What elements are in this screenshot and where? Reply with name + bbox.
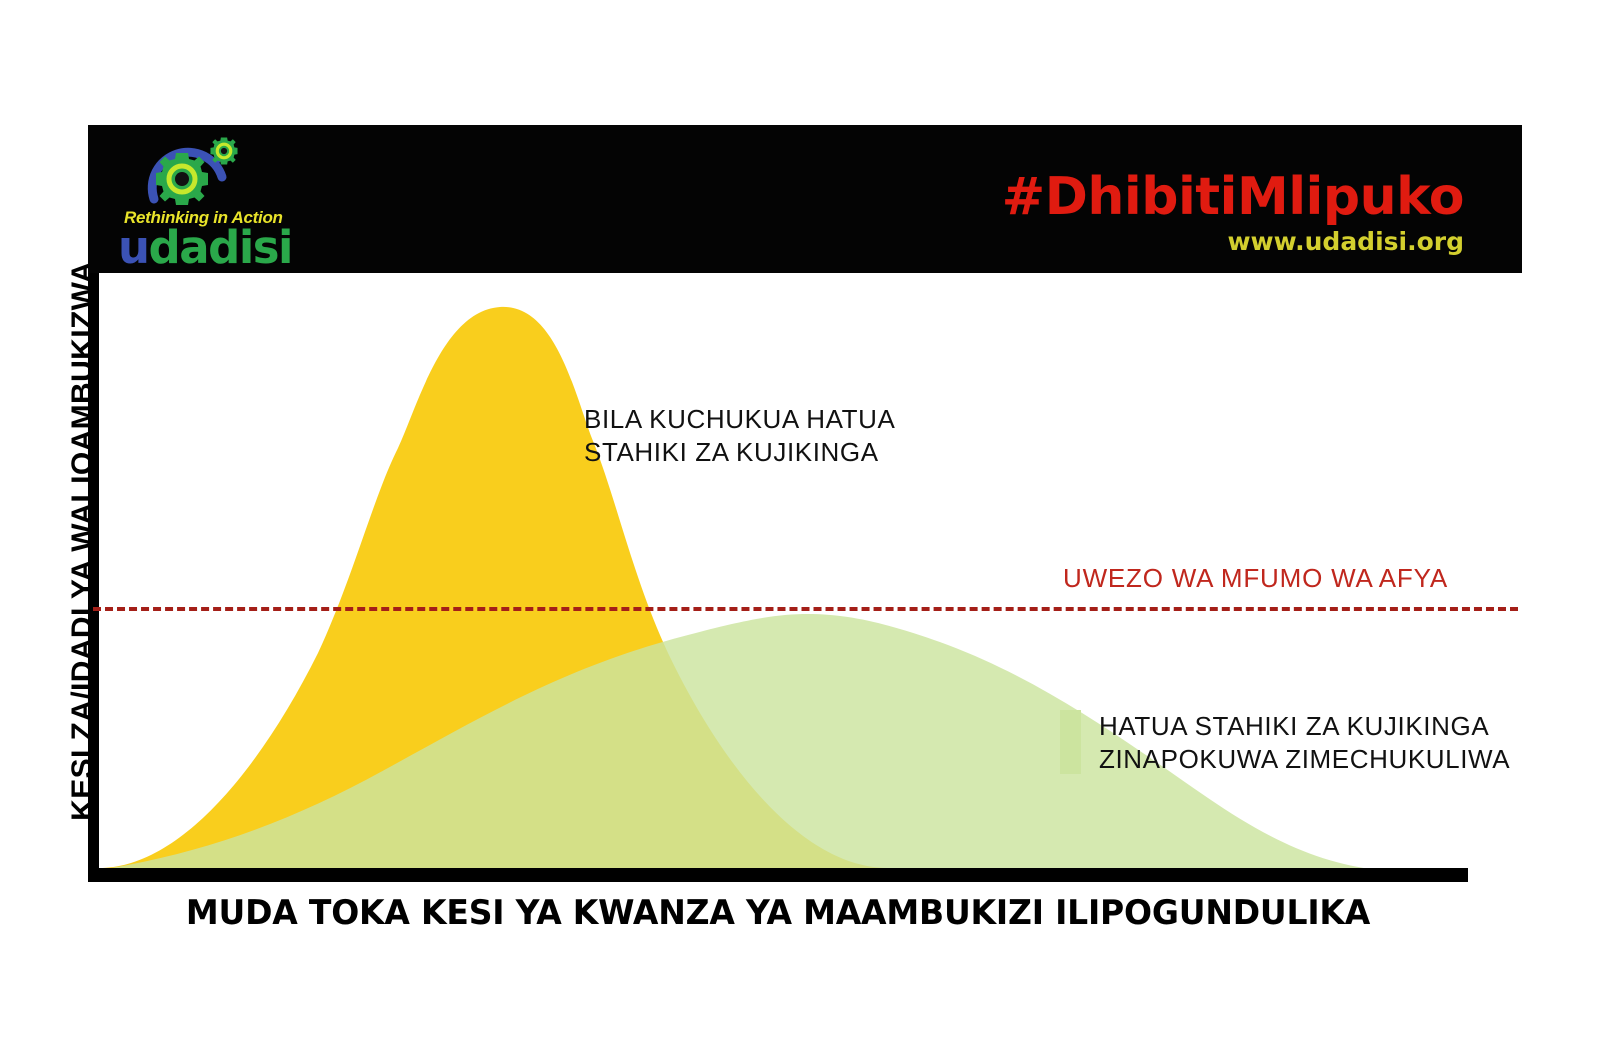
legend-no-action-line2: STAHIKI ZA KUJIKINGA [584,436,895,469]
header-bar: Rethinking in Action udadisi #DhibitiMli… [88,125,1522,273]
legend-with-action-line1: HATUA STAHIKI ZA KUJIKINGA [1099,710,1510,743]
health-capacity-label: UWEZO WA MFUMO WA AFYA [1063,563,1448,594]
logo-wordmark-u: u [118,221,149,274]
legend-with-action: HATUA STAHIKI ZA KUJIKINGA ZINAPOKUWA ZI… [1060,710,1510,776]
logo-wordmark: udadisi [118,225,292,270]
x-axis-title: MUDA TOKA KESI YA KWANZA YA MAAMBUKIZI I… [109,893,1448,933]
health-capacity-dashed-line [93,607,1518,611]
legend-no-action: BILA KUCHUKUA HATUA STAHIKI ZA KUJIKINGA [545,403,895,469]
legend-no-action-line1: BILA KUCHUKUA HATUA [584,403,895,436]
campaign-hashtag-block: #DhibitiMlipuko www.udadisi.org [1002,169,1464,257]
plot-area: UWEZO WA MFUMO WA AFYA BILA KUCHUKUA HAT… [88,273,1522,882]
y-axis-line [88,273,99,882]
legend-text-no-action: BILA KUCHUKUA HATUA STAHIKI ZA KUJIKINGA [584,403,895,469]
logo-wordmark-rest: dadisi [149,221,292,274]
udadisi-logo: Rethinking in Action udadisi [106,133,296,268]
legend-swatch-no-action [545,403,566,467]
legend-with-action-line2: ZINAPOKUWA ZIMECHUKULIWA [1099,743,1510,776]
infographic-root: KESI ZA/IDADI YA WALIOAMBUKIZWA [0,0,1600,1061]
gears-arrow-logo-icon [126,133,256,211]
campaign-hashtag: #DhibitiMlipuko [1002,169,1464,225]
x-axis-line [88,868,1468,882]
website-url[interactable]: www.udadisi.org [1002,227,1464,257]
legend-swatch-with-action [1060,710,1081,774]
legend-text-with-action: HATUA STAHIKI ZA KUJIKINGA ZINAPOKUWA ZI… [1099,710,1510,776]
chart-block: Rethinking in Action udadisi #DhibitiMli… [88,125,1522,882]
